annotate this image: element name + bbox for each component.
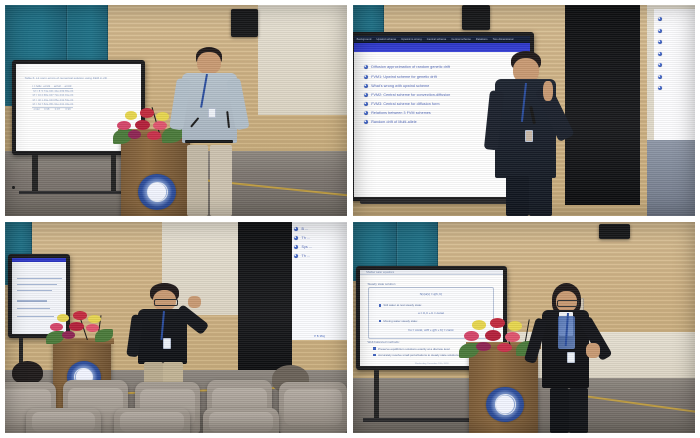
slide-subsection: Well-balanced methods:: [368, 340, 400, 344]
secondary-bullets: [658, 17, 662, 90]
ceiling-speaker: [599, 224, 630, 239]
slide-text-line: [17, 308, 50, 309]
hand-gesture: [188, 296, 201, 308]
leg-right: [569, 388, 588, 433]
nav-tab: Relations: [476, 38, 488, 41]
hand-gesture: [586, 343, 599, 358]
bullet-marker-icon: [364, 75, 368, 79]
foliage: [46, 331, 64, 344]
list-item: B ...: [294, 227, 345, 231]
bullet-text: B ...: [301, 227, 308, 231]
lecture-hall-scene-top-left: Table 6: L2 norm errors of numerical sol…: [5, 5, 347, 216]
flower: [69, 322, 83, 331]
light-wall: [258, 5, 347, 115]
audience-chair-front: [203, 408, 278, 433]
nav-tab: Upwind is wrong: [401, 38, 422, 41]
list-item: Th ...: [294, 236, 345, 240]
hand-gesture: [543, 81, 553, 101]
audience-head: [12, 361, 43, 384]
lecture-hall-scene-top-right: Background Upwind scheme Upwind is wrong…: [353, 5, 695, 216]
flower: [57, 314, 69, 322]
leg-left: [550, 388, 569, 433]
flower: [125, 111, 138, 120]
bullet-marker-icon: [658, 29, 662, 33]
bullet-text: FVM2: Central scheme for convection-diff…: [371, 93, 450, 97]
screen-stand-base: [363, 418, 486, 422]
flower: [73, 311, 87, 320]
flower: [86, 324, 99, 332]
bullet-text: Preserve equilibrium solutions exactly a…: [378, 347, 450, 351]
bullet-text: Random drift of Multi-allele: [371, 120, 417, 124]
bullet-marker-icon: [364, 111, 368, 115]
eyeglasses: [557, 300, 579, 307]
flower: [472, 320, 486, 329]
bullet-text: What's wrong with upwind scheme: [371, 84, 429, 88]
presenter: [534, 283, 613, 433]
dark-column-panel: [238, 222, 293, 374]
photo-top-right: Background Upwind scheme Upwind is wrong…: [353, 5, 695, 216]
ceiling-speaker: [231, 9, 258, 36]
flower: [490, 318, 505, 328]
nav-tab: Upwind scheme: [376, 38, 396, 41]
photo-grid: Table 6: L2 norm errors of numerical sol…: [0, 0, 700, 438]
flower: [88, 315, 100, 323]
list-item: Moving water steady state:: [379, 319, 418, 323]
badge: [525, 130, 533, 142]
main-equation: h(x)u(x) = q(h, b): [369, 292, 494, 296]
ceiling-speaker: [462, 5, 489, 30]
photo-top-left: Table 6: L2 norm errors of numerical sol…: [5, 5, 347, 216]
bullet-square-icon: [373, 354, 375, 356]
bullet-text: Th ...: [301, 254, 310, 258]
bullet-marker-icon: [294, 236, 298, 240]
nav-tab: Central scheme: [427, 38, 447, 41]
presenter: [490, 51, 579, 216]
bullet-square-icon: [379, 304, 381, 306]
table-row-order: order 0.98 0.97 0.99: [32, 107, 73, 112]
flower: [464, 331, 479, 341]
bullet-marker-icon: [294, 254, 298, 258]
screen-leg: [374, 370, 379, 421]
leg-right: [529, 176, 552, 215]
bullet-marker-icon: [364, 120, 368, 124]
flower: [135, 120, 150, 130]
cell: 0.97: [52, 107, 63, 112]
bullet-text: Diffusion approximation of random geneti…: [371, 65, 450, 69]
bullet-marker-icon: [658, 86, 662, 90]
leg-left: [187, 145, 208, 216]
audience-chair: [279, 382, 347, 433]
nav-tab: Background: [357, 38, 372, 41]
slide-text-line: [17, 290, 52, 291]
bullet-text: FVM1: Upwind scheme for genetic drift: [371, 75, 437, 79]
bullet-marker-icon: [364, 84, 368, 88]
cell: order: [32, 107, 41, 112]
bullet-text: Relations between 3 FVM schemes: [371, 111, 431, 115]
bullet-text: Sys ...: [301, 245, 312, 249]
photo-bottom-left: B ... Th ... Sys ... Th ... P. B. Ming: [5, 222, 347, 433]
badge: [567, 352, 575, 363]
photo-bottom-right: Shallow water equations Steady state sol…: [353, 222, 695, 433]
flower: [117, 121, 131, 130]
flower: [505, 332, 520, 342]
screen-stand-base: [19, 191, 128, 194]
bullet-marker-icon: [658, 63, 662, 67]
slide-header-title: Shallow water equations: [366, 271, 394, 274]
university-seal-emblem: [138, 174, 176, 210]
slide-text-line: [17, 278, 62, 279]
projection-screen: B ... Th ... Sys ... Th ... P. B. Ming: [292, 222, 347, 340]
slide-section-title: Steady state solution: [368, 282, 396, 286]
list-item: Preserve equilibrium solutions exactly a…: [373, 347, 450, 351]
list-item: Th ...: [294, 254, 345, 258]
nav-tab: Two dimensional: [493, 38, 514, 41]
slide-text-line: [17, 284, 58, 285]
bullet-text: Still water at rest steady state:: [383, 303, 422, 307]
flower: [508, 321, 522, 330]
lecture-hall-scene-bottom-left: B ... Th ... Sys ... Th ... P. B. Ming: [5, 222, 347, 433]
badge: [163, 338, 171, 349]
flower: [140, 108, 154, 118]
equation: u = 0, h + b = const: [369, 311, 494, 315]
bullet-marker-icon: [658, 52, 662, 56]
bullet-square-icon: [379, 320, 381, 322]
audience-chair-front: [114, 408, 189, 433]
bullet-square-icon: [373, 347, 375, 349]
head: [197, 52, 220, 74]
slide-table-title: Table 6: L2 norm errors of numerical sol…: [25, 76, 107, 80]
bullet-marker-icon: [294, 227, 298, 231]
bullet-marker-icon: [364, 65, 368, 69]
flower: [128, 130, 142, 139]
flower-arrangement: [46, 311, 114, 347]
leg-right: [210, 145, 232, 216]
belt: [185, 140, 233, 143]
audience-chair-front: [26, 408, 101, 433]
secondary-screen: [654, 9, 695, 140]
slide-table-grid: r = h/Δx errU1 errU2 errU3 M = 8 5.74e-0…: [32, 84, 73, 112]
cell: 0.98: [41, 107, 52, 112]
bullet-marker-icon: [658, 75, 662, 79]
badge: [208, 108, 216, 118]
bullet-text: Moving water steady state:: [383, 319, 417, 323]
flower: [476, 342, 491, 352]
slide-bullet-list: B ... Th ... Sys ... Th ...: [294, 227, 345, 264]
eyeglasses: [154, 299, 178, 306]
flower: [50, 323, 63, 331]
foliage: [95, 329, 113, 342]
slide-text-line: [17, 300, 47, 301]
bullet-marker-icon: [294, 245, 298, 249]
bullet-marker-icon: [364, 93, 368, 97]
flower: [156, 112, 169, 121]
flower: [147, 131, 161, 140]
lecture-hall-scene-bottom-right: Shallow water equations Steady state sol…: [353, 222, 695, 433]
university-seal-emblem: [486, 387, 524, 423]
screen-stand-leg-left: [32, 155, 37, 193]
teal-partition: [353, 5, 384, 35]
bullet-text: FVM3: Central scheme for diffusion form: [371, 102, 439, 106]
presenter: [173, 47, 262, 216]
flower: [485, 330, 502, 341]
screen-stand-leg-right: [111, 155, 116, 193]
podium-right: [647, 140, 695, 216]
bullet-marker-icon: [658, 17, 662, 21]
bullet-text: Th ...: [301, 236, 310, 240]
cell: 0.99: [63, 107, 74, 112]
slide-nav-tabs: Background Upwind scheme Upwind is wrong…: [354, 36, 531, 43]
bullet-marker-icon: [364, 102, 368, 106]
slide-banner: [12, 258, 66, 262]
slide-footer: P. B. Ming: [292, 335, 347, 338]
list-item: Still water at rest steady state:: [379, 303, 422, 307]
flower: [62, 331, 74, 339]
list-item: Sys ...: [294, 245, 345, 249]
leg-left: [506, 176, 529, 215]
flower: [497, 343, 512, 353]
bullet-marker-icon: [658, 40, 662, 44]
nav-tab: Central scheme: [451, 38, 471, 41]
